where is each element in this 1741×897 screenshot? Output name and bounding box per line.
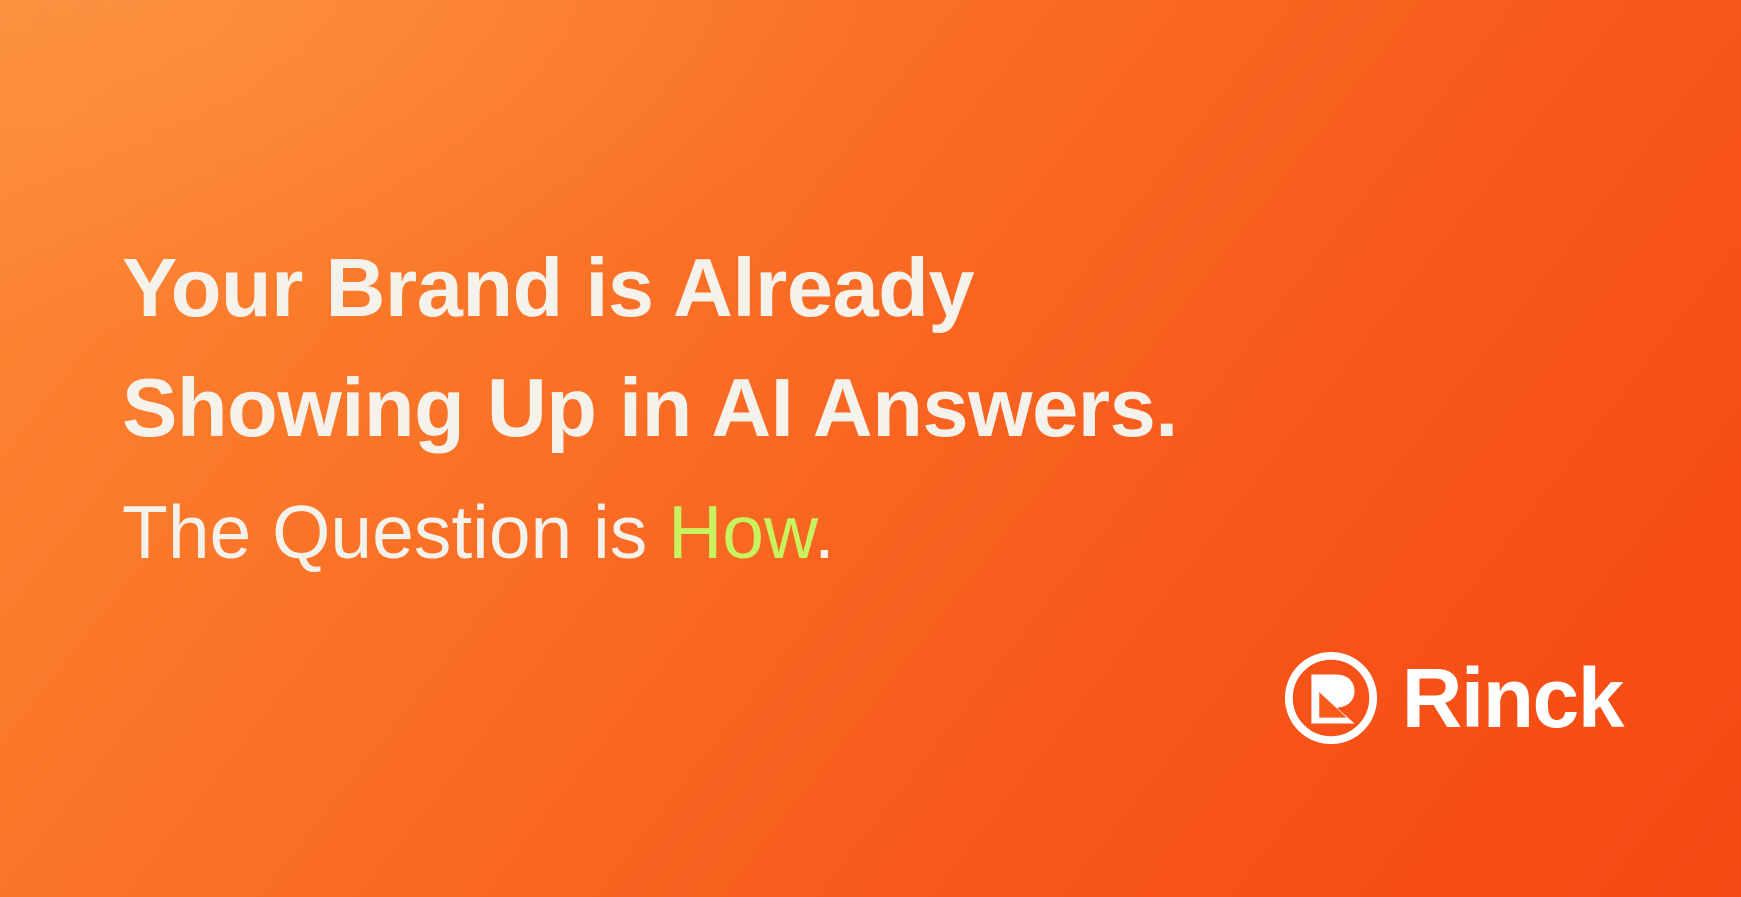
headline-line-2: Showing Up in AI Answers. xyxy=(122,348,1322,468)
promo-banner: Your Brand is Already Showing Up in AI A… xyxy=(0,0,1741,897)
headline-block: Your Brand is Already Showing Up in AI A… xyxy=(122,228,1322,596)
rinck-logo-lockup: Rinck xyxy=(1282,649,1623,747)
headline-line-3-suffix: . xyxy=(814,490,835,574)
headline-accent-how: How xyxy=(668,490,814,574)
headline-line-3-prefix: The Question is xyxy=(122,490,668,574)
rinck-circle-r-mark-icon xyxy=(1282,649,1380,747)
rinck-wordmark: Rinck xyxy=(1402,656,1623,740)
headline-line-3: The Question is How. xyxy=(122,468,1322,596)
headline-line-1: Your Brand is Already xyxy=(122,228,1322,348)
